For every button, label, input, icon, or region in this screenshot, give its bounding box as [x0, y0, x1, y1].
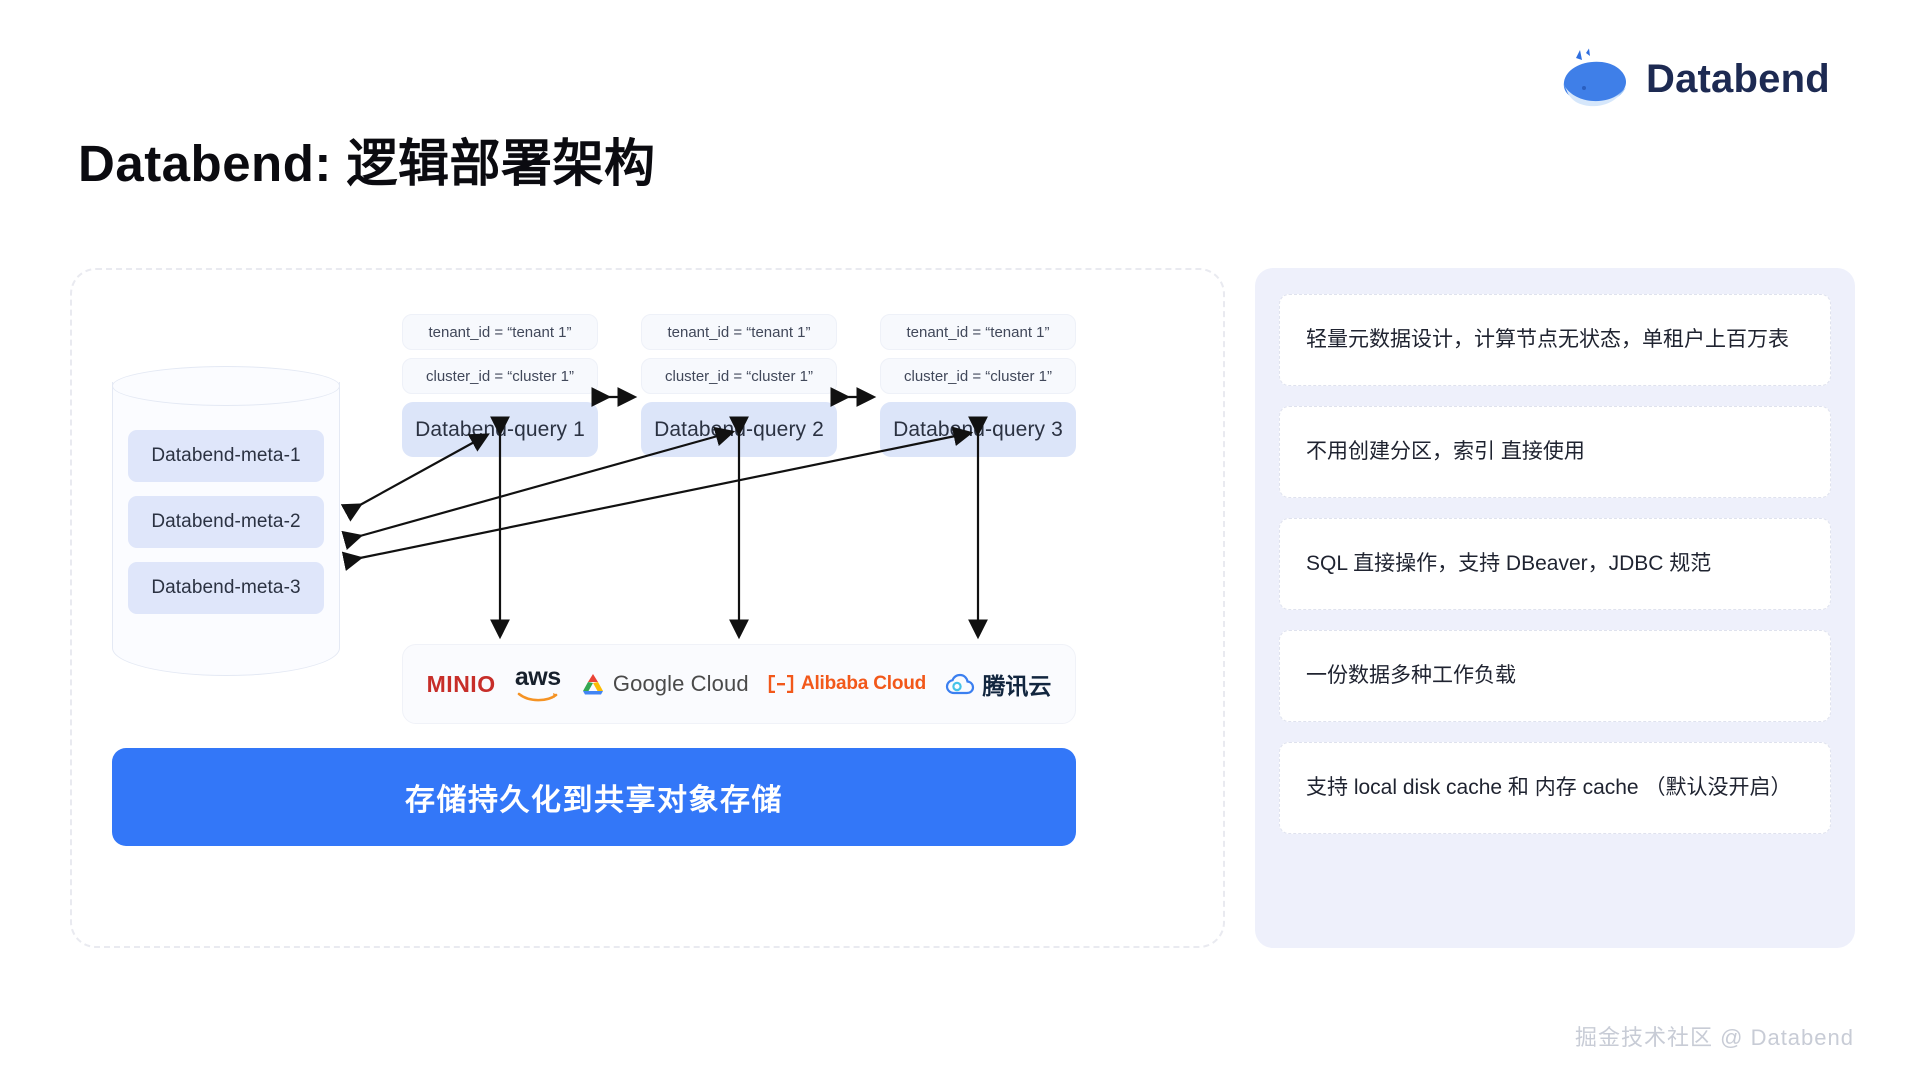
feature-list-panel: 轻量元数据设计，计算节点无状态，单租户上百万表 不用创建分区，索引 直接使用 S…: [1255, 268, 1855, 948]
tencent-cloud-logo-text: 腾讯云: [982, 667, 1051, 701]
alibaba-cloud-logo-text: Alibaba Cloud: [801, 673, 926, 695]
query-node-3[interactable]: Databend-query 3: [880, 402, 1076, 457]
architecture-diagram-panel: Databend-meta-1 Databend-meta-2 Databend…: [70, 268, 1225, 948]
cloud-provider-google: Google Cloud: [580, 671, 749, 697]
query-column-2: tenant_id = “tenant 1” cluster_id = “clu…: [641, 314, 837, 457]
query-column-1: tenant_id = “tenant 1” cluster_id = “clu…: [402, 314, 598, 457]
brand-logo: Databend: [1556, 48, 1830, 110]
feature-card-1: 轻量元数据设计，计算节点无状态，单租户上百万表: [1279, 294, 1831, 386]
tenant-id-chip-3: tenant_id = “tenant 1”: [880, 314, 1076, 350]
cloud-provider-tencent: 腾讯云: [945, 667, 1051, 701]
feature-card-3: SQL 直接操作，支持 DBeaver，JDBC 规范: [1279, 518, 1831, 610]
meta-cluster-cylinder: Databend-meta-1 Databend-meta-2 Databend…: [112, 366, 340, 676]
minio-logo-text: MINIO: [427, 671, 496, 698]
alibaba-cloud-icon: [768, 675, 794, 693]
cloud-provider-alibaba: Alibaba Cloud: [768, 673, 926, 695]
query-node-2[interactable]: Databend-query 2: [641, 402, 837, 457]
tenant-id-chip-1: tenant_id = “tenant 1”: [402, 314, 598, 350]
feature-card-2: 不用创建分区，索引 直接使用: [1279, 406, 1831, 498]
cluster-id-chip-3: cluster_id = “cluster 1”: [880, 358, 1076, 394]
aws-smile-icon: [517, 691, 559, 703]
cloud-provider-minio: MINIO: [427, 671, 496, 698]
watermark-text: 掘金技术社区 @ Databend: [1575, 1020, 1854, 1052]
cloud-provider-strip: MINIO aws Google Cloud Ali: [402, 644, 1076, 724]
cluster-id-chip-1: cluster_id = “cluster 1”: [402, 358, 598, 394]
meta-node-2[interactable]: Databend-meta-2: [128, 496, 324, 548]
whale-icon: [1556, 48, 1632, 110]
meta-node-3[interactable]: Databend-meta-3: [128, 562, 324, 614]
query-node-1[interactable]: Databend-query 1: [402, 402, 598, 457]
brand-logo-text: Databend: [1646, 57, 1830, 102]
cluster-id-chip-2: cluster_id = “cluster 1”: [641, 358, 837, 394]
cylinder-top: [112, 366, 340, 406]
page-title: Databend: 逻辑部署架构: [78, 122, 656, 196]
meta-node-1[interactable]: Databend-meta-1: [128, 430, 324, 482]
feature-card-5: 支持 local disk cache 和 内存 cache （默认没开启）: [1279, 742, 1831, 834]
cloud-provider-aws: aws: [515, 665, 561, 703]
google-cloud-logo-text: Google Cloud: [613, 671, 749, 697]
feature-card-4: 一份数据多种工作负载: [1279, 630, 1831, 722]
query-column-3: tenant_id = “tenant 1” cluster_id = “clu…: [880, 314, 1076, 457]
aws-logo-text: aws: [515, 665, 561, 690]
storage-persistence-banner: 存储持久化到共享对象存储: [112, 748, 1076, 846]
tencent-cloud-icon: [945, 672, 975, 696]
tenant-id-chip-2: tenant_id = “tenant 1”: [641, 314, 837, 350]
meta-node-list: Databend-meta-1 Databend-meta-2 Databend…: [128, 430, 324, 614]
google-cloud-icon: [580, 672, 606, 696]
